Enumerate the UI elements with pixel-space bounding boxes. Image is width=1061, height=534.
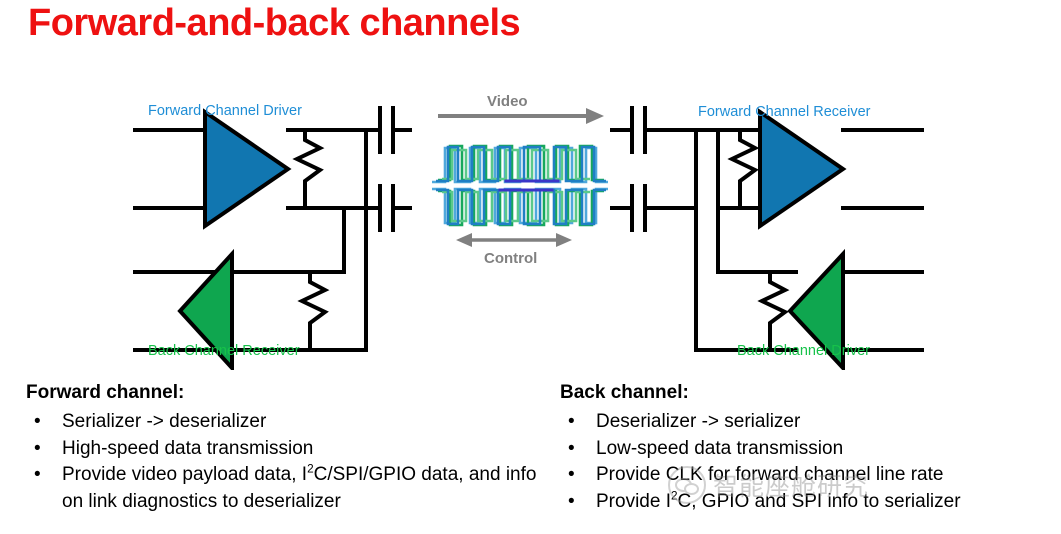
- bullet-text-post: C, GPIO and SPI info to serializer: [678, 491, 961, 512]
- list-item: •Deserializer -> serializer: [560, 409, 1060, 436]
- bullet-text-pre: High-speed data transmission: [62, 438, 313, 459]
- bullet-dot: •: [568, 462, 575, 489]
- list-item: •Provide video payload data, I2C/SPI/GPI…: [26, 462, 556, 515]
- label-forward-channel-receiver: Forward Channel Receiver: [698, 104, 870, 120]
- bullet-text-pre: Deserializer -> serializer: [596, 411, 800, 432]
- bullet-text-pre: Serializer -> deserializer: [62, 411, 266, 432]
- forward-termination-resistor: [297, 130, 320, 208]
- back-receiver-termination-resistor: [302, 272, 325, 350]
- label-back-channel-receiver: Back Channel Receiver: [148, 343, 300, 359]
- bullet-text-pre: Low-speed data transmission: [596, 438, 843, 459]
- back-channel-bullet-list: •Deserializer -> serializer •Low-speed d…: [560, 409, 1060, 515]
- forward-receiver-termination-resistor: [732, 130, 755, 208]
- forward-channel-bullet-list: •Serializer -> deserializer •High-speed …: [26, 409, 556, 515]
- list-item: •Serializer -> deserializer: [26, 409, 556, 436]
- slide-root: Forward-and-back channels: [0, 0, 1061, 534]
- back-driver-termination-resistor: [762, 272, 785, 350]
- list-item: •Provide I2C, GPIO and SPI info to seria…: [560, 489, 1060, 516]
- video-arrow-head-right: [586, 108, 604, 124]
- label-back-channel-driver: Back Channel Driver: [737, 343, 870, 359]
- list-item: •Low-speed data transmission: [560, 436, 1060, 463]
- back-channel-heading: Back channel:: [560, 381, 1060, 405]
- bullet-text-pre: Provide video payload data, I: [62, 464, 307, 485]
- label-forward-channel-driver: Forward Channel Driver: [148, 103, 302, 119]
- bullet-text-pre: Provide CLK for forward channel line rat…: [596, 464, 943, 485]
- bullet-dot: •: [568, 409, 575, 436]
- forward-channel-heading: Forward channel:: [26, 381, 556, 405]
- back-channel-section: Back channel: •Deserializer -> serialize…: [560, 381, 1060, 515]
- bullet-dot: •: [34, 462, 41, 489]
- bullet-dot: •: [34, 436, 41, 463]
- page-title: Forward-and-back channels: [28, 2, 520, 45]
- bullet-dot: •: [568, 489, 575, 516]
- bullet-text-pre: Provide I: [596, 491, 671, 512]
- list-item: •High-speed data transmission: [26, 436, 556, 463]
- list-item: •Provide CLK for forward channel line ra…: [560, 462, 1060, 489]
- control-arrow-head-left: [456, 233, 472, 247]
- bullet-dot: •: [568, 436, 575, 463]
- forward-channel-section: Forward channel: •Serializer -> deserial…: [26, 381, 556, 515]
- forward-driver-triangle: [205, 112, 288, 226]
- forward-receiver-triangle: [760, 112, 843, 226]
- label-control: Control: [484, 250, 537, 267]
- bullet-dot: •: [34, 409, 41, 436]
- label-video: Video: [487, 93, 528, 110]
- control-arrow-head-right: [556, 233, 572, 247]
